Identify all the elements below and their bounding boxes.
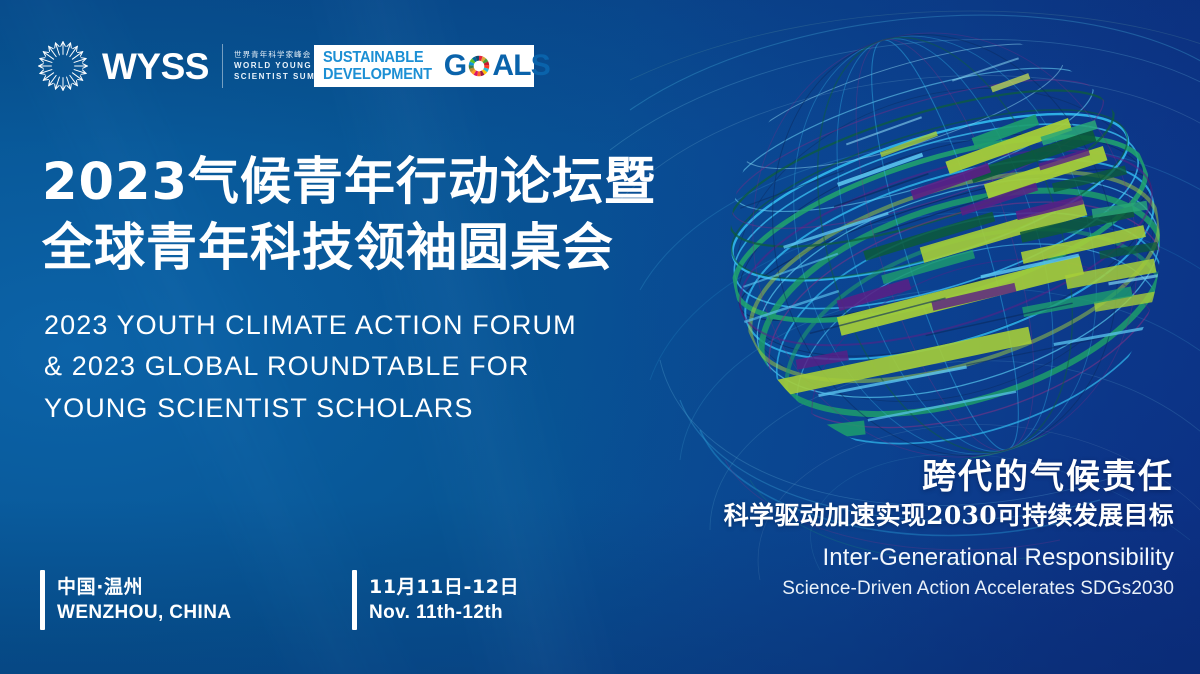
location-text: 中国·温州 WENZHOU, CHINA bbox=[57, 570, 231, 630]
location-en: WENZHOU, CHINA bbox=[57, 601, 231, 625]
page-title-en-line2: & 2023 GLOBAL ROUNDTABLE FOR bbox=[44, 346, 577, 387]
sdg-color-wheel-icon bbox=[466, 53, 492, 79]
page-title-cn: 2023气候青年行动论坛暨 全球青年科技领袖圆桌会 bbox=[42, 150, 656, 283]
date-en: Nov. 11th-12th bbox=[369, 601, 519, 625]
sdg-goals-wordmark: G bbox=[444, 51, 550, 81]
sdg-goals-letters-als: ALS bbox=[492, 51, 550, 81]
sdg-label-line2: DEVELOPMENT bbox=[323, 67, 432, 83]
page-title-en: 2023 YOUTH CLIMATE ACTION FORUM & 2023 G… bbox=[44, 305, 577, 429]
sdg-goals-letter-g: G bbox=[444, 51, 467, 81]
sdg-logo: SUSTAINABLE DEVELOPMENT G bbox=[314, 45, 534, 87]
sdg-label-line1: SUSTAINABLE bbox=[323, 50, 432, 66]
page-title-en-line3: YOUNG SCIENTIST SCHOLARS bbox=[44, 388, 577, 429]
location-block: 中国·温州 WENZHOU, CHINA bbox=[40, 570, 231, 630]
location-cn: 中国·温州 bbox=[57, 575, 231, 599]
wyss-wordmark: WYSS bbox=[102, 48, 209, 85]
banner-footer: 中国·温州 WENZHOU, CHINA 11月11日-12日 Nov. 11t… bbox=[0, 554, 1200, 674]
page-title-cn-line1: 2023气候青年行动论坛暨 bbox=[42, 150, 656, 216]
date-text: 11月11日-12日 Nov. 11th-12th bbox=[369, 570, 519, 630]
theme-headline-cn: 跨代的气候责任 bbox=[724, 458, 1174, 496]
theme-subline-cn: 科学驱动加速实现2030可持续发展目标 bbox=[724, 499, 1174, 533]
location-accent-bar bbox=[40, 570, 45, 630]
date-block: 11月11日-12日 Nov. 11th-12th bbox=[352, 570, 519, 630]
page-title-en-line1: 2023 YOUTH CLIMATE ACTION FORUM bbox=[44, 305, 577, 346]
banner-header: WYSS 世界青年科学家峰会 WORLD YOUNG SCIENTIST SUM… bbox=[0, 0, 1200, 130]
sunburst-circle-icon bbox=[34, 37, 92, 95]
event-banner: WYSS 世界青年科学家峰会 WORLD YOUNG SCIENTIST SUM… bbox=[0, 0, 1200, 674]
page-title-cn-line2: 全球青年科技领袖圆桌会 bbox=[42, 216, 656, 282]
sdg-label: SUSTAINABLE DEVELOPMENT bbox=[323, 50, 439, 82]
date-cn: 11月11日-12日 bbox=[369, 575, 519, 599]
wyss-logo: WYSS 世界青年科学家峰会 WORLD YOUNG SCIENTIST SUM… bbox=[34, 36, 334, 96]
wyss-logo-divider bbox=[222, 44, 223, 88]
date-accent-bar bbox=[352, 570, 357, 630]
